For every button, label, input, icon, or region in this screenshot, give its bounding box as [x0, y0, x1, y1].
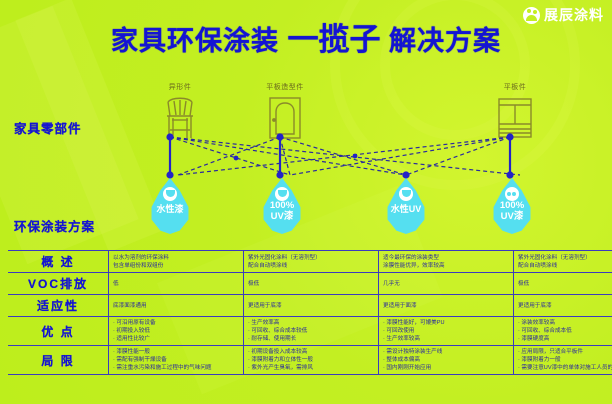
- cell-adv-4: 涂装效率较高 可回收、综合成本低 漆膜硬度高: [514, 317, 612, 346]
- cell-overview-1: 以水为溶剂的环保涂料包含单组份和双组份: [109, 251, 244, 273]
- page-title: 家具环保涂装 一揽子 解决方案: [0, 14, 612, 59]
- cell-voc-3: 几乎无: [379, 273, 514, 295]
- cell-lim-2: 初期设备投入成本较高 漆膜附着力和立体性一般 紫外光产生臭氧，需排风: [244, 346, 379, 375]
- leaf-bubble-icon: [399, 187, 413, 201]
- title-emphasis: 一揽子: [288, 22, 381, 57]
- water-drop-icon: 水性漆: [148, 178, 192, 234]
- solution-droplet-uv-1[interactable]: 100% UV漆: [254, 178, 310, 234]
- cell-lim-1: 漆膜性能一般 需配有强制干燥设备 需注重水污染和施工过程中的气味问题: [109, 346, 244, 375]
- leaf-bubble-icon: [163, 187, 177, 201]
- table-row-overview: 概 述 以水为溶剂的环保涂料包含单组份和双组份 紫外光固化涂料（无溶剂型）配合自…: [8, 251, 612, 273]
- row-label-limitations: 局 限: [8, 346, 109, 375]
- table-row-limitations: 局 限 漆膜性能一般 需配有强制干燥设备 需注重水污染和施工过程中的气味问题 初…: [8, 346, 612, 375]
- row-label-voc: VOC排放: [8, 273, 109, 295]
- comparison-table: 概 述 以水为溶剂的环保涂料包含单组份和双组份 紫外光固化涂料（无溶剂型）配合自…: [8, 250, 612, 375]
- uv-bubble-icon: [505, 187, 519, 201]
- solution-droplet-uv-2[interactable]: 100% UV漆: [484, 178, 540, 234]
- droplet-label: 水性UV: [384, 204, 428, 214]
- solution-diagram: 家具零部件 环保涂装方案 异形件 平板造型件: [0, 70, 612, 248]
- cell-adv-1: 可沿用原有设备 初期投入较低 适用性比较广: [109, 317, 244, 346]
- brand-logo: 展辰涂料: [523, 5, 604, 25]
- solution-droplet-water[interactable]: 水性漆: [142, 178, 198, 234]
- table-row-advantages: 优 点 可沿用原有设备 初期投入较低 适用性比较广 生产效率高 可回收、综合成本…: [8, 317, 612, 346]
- cell-adv-3: 漆膜性能好，可媲美PU 可回改使用 生产效率较高: [379, 317, 514, 346]
- droplet-label: 100% UV漆: [490, 200, 534, 222]
- water-drop-icon: 100% UV漆: [490, 178, 534, 234]
- cell-lim-3: 需设计独特涂装生产线 整体成本偏高 国内刚刚开始应用: [379, 346, 514, 375]
- cell-overview-4: 紫外光固化涂料（无溶剂型）配合自动喷涂线: [514, 251, 612, 273]
- cell-adapt-3: 更适用于面漆: [379, 295, 514, 317]
- cell-adapt-1: 底漆面漆通用: [109, 295, 244, 317]
- cell-overview-2: 紫外光固化涂料（无溶剂型）配合自动喷涂线: [244, 251, 379, 273]
- title-part-b: 解决方案: [389, 26, 501, 56]
- droplet-label: 水性漆: [148, 204, 192, 214]
- leaf-bubble-icon: [275, 187, 289, 201]
- cell-adapt-2: 更适用于底漆: [244, 295, 379, 317]
- brand-name: 展辰涂料: [544, 5, 604, 25]
- cell-lim-4: 应用局限，只适合平板件 漆膜附着力一般 需要注意UV漆中的单体对施工人员的危害: [514, 346, 612, 375]
- droplet-label: 100% UV漆: [260, 200, 304, 222]
- cell-voc-4: 极低: [514, 273, 612, 295]
- solution-droplet-water-uv[interactable]: 水性UV: [378, 178, 434, 234]
- row-label-adaptability: 适应性: [8, 295, 109, 317]
- cell-voc-1: 低: [109, 273, 244, 295]
- cell-adv-2: 生产效率高 可回收、综合成本较低 耐存储、使用期长: [244, 317, 379, 346]
- cell-adapt-4: 更适用于底漆: [514, 295, 612, 317]
- cell-overview-3: 适今最环保的涂装类型涂膜性能优异，效率较高: [379, 251, 514, 273]
- poster-root: 家具环保涂装 一揽子 解决方案 展辰涂料 家具零部件 环保涂装方案 异形件: [0, 0, 612, 404]
- water-drop-icon: 水性UV: [384, 178, 428, 234]
- table-row-voc: VOC排放 低 极低 几乎无 极低: [8, 273, 612, 295]
- title-part-a: 家具环保涂装: [111, 26, 279, 56]
- water-drop-icon: 100% UV漆: [260, 178, 304, 234]
- leaf-circle-logo-icon: [523, 7, 540, 24]
- row-label-overview: 概 述: [8, 251, 109, 273]
- table-row-adaptability: 适应性 底漆面漆通用 更适用于底漆 更适用于面漆 更适用于底漆: [8, 295, 612, 317]
- cell-voc-2: 极低: [244, 273, 379, 295]
- row-label-advantages: 优 点: [8, 317, 109, 346]
- poster-header: 家具环保涂装 一揽子 解决方案 展辰涂料: [0, 0, 612, 70]
